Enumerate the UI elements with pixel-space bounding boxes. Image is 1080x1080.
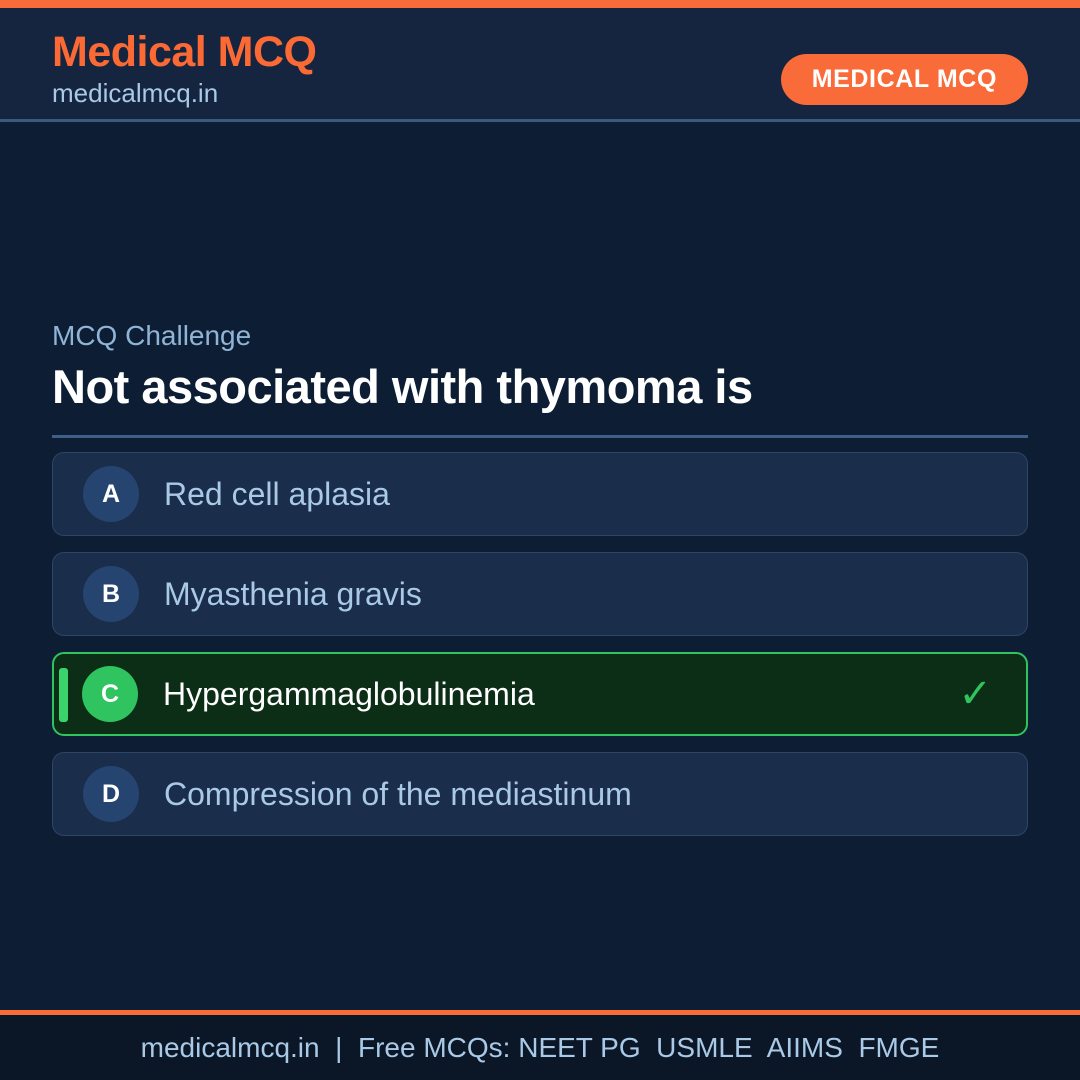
option-letter-badge: D <box>83 766 139 822</box>
option-letter-badge: A <box>83 466 139 522</box>
option-text: Red cell aplasia <box>164 476 390 513</box>
page-header: Medical MCQ medicalmcq.in MEDICAL MCQ <box>0 8 1080 122</box>
option-text: Hypergammaglobulinemia <box>163 676 535 713</box>
option-a[interactable]: A Red cell aplasia <box>52 452 1028 536</box>
options-list: A Red cell aplasia B Myasthenia gravis C… <box>52 452 1028 852</box>
correct-accent-bar <box>59 668 68 722</box>
page-footer: medicalmcq.in | Free MCQs: NEET PG USMLE… <box>0 1010 1080 1080</box>
question-divider <box>52 435 1028 438</box>
option-text: Myasthenia gravis <box>164 576 422 613</box>
header-badge: MEDICAL MCQ <box>781 54 1028 105</box>
option-letter-badge: B <box>83 566 139 622</box>
question-block: MCQ Challenge Not associated with thymom… <box>52 318 1028 438</box>
footer-text: medicalmcq.in | Free MCQs: NEET PG USMLE… <box>141 1032 940 1064</box>
top-accent-bar <box>0 0 1080 8</box>
question-eyebrow: MCQ Challenge <box>52 318 1028 354</box>
brand: Medical MCQ medicalmcq.in <box>52 26 317 110</box>
check-icon: ✓ <box>958 674 992 714</box>
option-letter-badge: C <box>82 666 138 722</box>
option-b[interactable]: B Myasthenia gravis <box>52 552 1028 636</box>
brand-title: Medical MCQ <box>52 26 317 78</box>
brand-subtitle: medicalmcq.in <box>52 76 317 110</box>
option-text: Compression of the mediastinum <box>164 776 632 813</box>
question-text: Not associated with thymoma is <box>52 356 1028 418</box>
option-c[interactable]: C Hypergammaglobulinemia ✓ <box>52 652 1028 736</box>
option-d[interactable]: D Compression of the mediastinum <box>52 752 1028 836</box>
